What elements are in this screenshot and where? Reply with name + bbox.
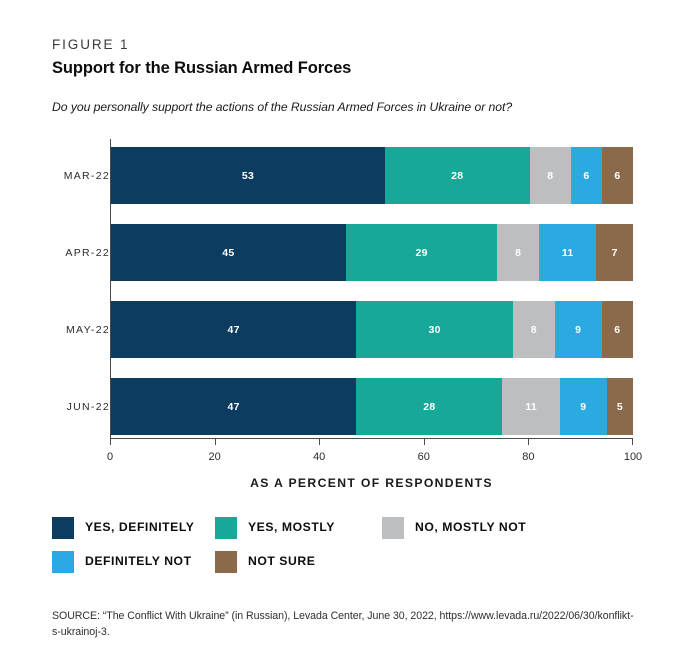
legend-swatch-no-mostly-not: [382, 517, 404, 539]
legend-label: YES, DEFINITELY: [85, 521, 194, 533]
bar-segment: 45: [111, 224, 346, 281]
bar-segment: 28: [356, 378, 502, 435]
chart-plot-area: MAR-22APR-22MAY-22JUN-22 532886645298117…: [52, 139, 637, 444]
x-axis-line: 020406080100: [110, 438, 633, 439]
bar-segment-value: 8: [547, 171, 553, 182]
bar-segment-value: 6: [583, 171, 589, 182]
figure-container: FIGURE 1 Support for the Russian Armed F…: [0, 0, 685, 666]
y-axis-label: MAR-22: [64, 170, 110, 182]
legend-swatch-not-sure: [215, 551, 237, 573]
bar-segment-value: 11: [562, 248, 574, 259]
legend-label: NO, MOSTLY NOT: [415, 521, 526, 533]
bar-segment: 11: [539, 224, 596, 281]
x-axis-tick-label: 100: [624, 451, 642, 463]
bar-segment-value: 11: [525, 402, 537, 413]
y-axis-labels: MAR-22APR-22MAY-22JUN-22: [52, 139, 110, 438]
legend-label: DEFINITELY NOT: [85, 555, 192, 567]
bar-segment: 47: [111, 378, 356, 435]
legend-item[interactable]: DEFINITELY NOT: [52, 550, 192, 573]
bar-segment: 30: [356, 301, 513, 358]
legend-swatch-yes-mostly: [215, 517, 237, 539]
legend-row: DEFINITELY NOTNOT SURE: [52, 550, 652, 573]
legend-swatch-definitely-not: [52, 551, 74, 573]
bar-segment-value: 8: [515, 248, 521, 259]
bar-segment-value: 6: [614, 171, 620, 182]
x-axis-tick-label: 40: [313, 451, 325, 463]
bar-segment: 7: [596, 224, 633, 281]
bar-segment: 9: [555, 301, 602, 358]
bar-segment-value: 6: [614, 325, 620, 336]
bar-segment-value: 9: [575, 325, 581, 336]
bar-row: 45298117: [111, 224, 633, 281]
legend-label: YES, MOSTLY: [248, 521, 335, 533]
bar-segment: 8: [530, 147, 571, 204]
bar-row: 47281195: [111, 378, 633, 435]
bar-segment-value: 5: [617, 402, 623, 413]
x-axis-tick-label: 0: [107, 451, 113, 463]
bar-segment-value: 30: [428, 325, 440, 336]
bar-segment: 8: [497, 224, 539, 281]
bar-segment: 8: [513, 301, 555, 358]
bar-segment: 11: [502, 378, 559, 435]
bar-segment-value: 29: [415, 248, 427, 259]
bar-segment: 9: [560, 378, 607, 435]
x-axis-tick: [319, 438, 320, 445]
bar-segment: 6: [602, 147, 633, 204]
y-axis-label: JUN-22: [67, 401, 110, 413]
legend-item[interactable]: NOT SURE: [215, 550, 315, 573]
chart-legend: YES, DEFINITELYYES, MOSTLYNO, MOSTLY NOT…: [52, 516, 652, 584]
bar-segment: 6: [602, 301, 633, 358]
x-axis-tick-label: 60: [418, 451, 430, 463]
legend-row: YES, DEFINITELYYES, MOSTLYNO, MOSTLY NOT: [52, 516, 652, 539]
legend-item[interactable]: YES, DEFINITELY: [52, 516, 194, 539]
legend-item[interactable]: YES, MOSTLY: [215, 516, 335, 539]
bar-segment: 47: [111, 301, 356, 358]
legend-swatch-yes-definitely: [52, 517, 74, 539]
bar-segment: 29: [346, 224, 497, 281]
stacked-bars: 532886645298117473089647281195: [111, 139, 633, 438]
bar-segment: 5: [607, 378, 633, 435]
x-axis-tick: [215, 438, 216, 445]
x-axis-tick: [424, 438, 425, 445]
bar-segment: 6: [571, 147, 602, 204]
x-axis-tick: [528, 438, 529, 445]
y-axis-label: MAY-22: [66, 324, 110, 336]
figure-question: Do you personally support the actions of…: [52, 100, 637, 115]
legend-item[interactable]: NO, MOSTLY NOT: [382, 516, 526, 539]
bar-segment: 53: [111, 147, 385, 204]
figure-number: FIGURE 1: [52, 38, 637, 52]
source-note: SOURCE: “The Conflict With Ukraine” (in …: [52, 608, 642, 640]
legend-label: NOT SURE: [248, 555, 315, 567]
x-axis-tick: [110, 438, 111, 445]
bar-row: 4730896: [111, 301, 633, 358]
bar-segment-value: 9: [580, 402, 586, 413]
bar-segment-value: 53: [242, 171, 254, 182]
x-axis-tick-label: 20: [208, 451, 220, 463]
bar-row: 5328866: [111, 147, 633, 204]
x-axis-tick: [632, 438, 633, 445]
bar-segment-value: 47: [228, 402, 240, 413]
bar-segment-value: 7: [612, 248, 618, 259]
bar-segment: 28: [385, 147, 530, 204]
x-axis-title: AS A PERCENT OF RESPONDENTS: [110, 476, 633, 490]
bar-segment-value: 28: [423, 402, 435, 413]
bar-segment-value: 45: [222, 248, 234, 259]
figure-title: Support for the Russian Armed Forces: [52, 59, 637, 77]
x-axis-tick-label: 80: [522, 451, 534, 463]
bar-segment-value: 28: [451, 171, 463, 182]
bar-segment-value: 47: [228, 325, 240, 336]
y-axis-label: APR-22: [65, 247, 110, 259]
bar-segment-value: 8: [531, 325, 537, 336]
